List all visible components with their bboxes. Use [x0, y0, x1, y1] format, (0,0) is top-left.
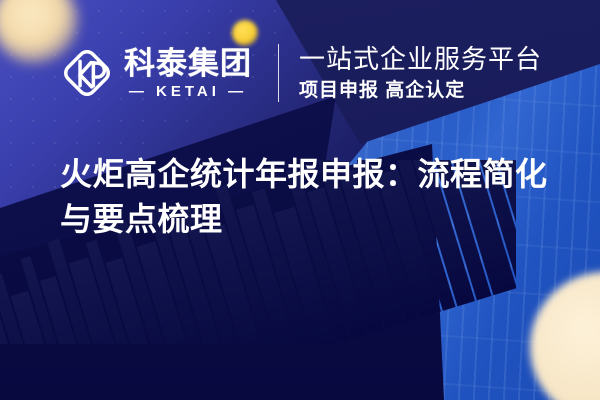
headline-line-1: 火炬高企统计年报申报：流程简化 — [60, 152, 560, 197]
brand-header: 科泰集团 — KETAI — 一站式企业服务平台 项目申报 高企认定 — [58, 44, 542, 102]
vertical-divider — [278, 44, 279, 102]
tagline-block: 一站式企业服务平台 项目申报 高企认定 — [299, 46, 542, 99]
logo-company-cn: 科泰集团 — [124, 48, 252, 79]
headline: 火炬高企统计年报申报：流程简化 与要点梳理 — [60, 152, 560, 243]
tagline-main: 一站式企业服务平台 — [299, 46, 542, 73]
logo-company-en: — KETAI — — [129, 84, 247, 99]
kp-monogram-diamond-icon — [58, 44, 116, 102]
headline-line-2: 与要点梳理 — [60, 197, 560, 242]
tagline-sub: 项目申报 高企认定 — [299, 81, 542, 100]
logo-wordmark: 科泰集团 — KETAI — — [124, 48, 252, 99]
promo-banner: 科泰集团 — KETAI — 一站式企业服务平台 项目申报 高企认定 火炬高企统… — [0, 0, 600, 400]
gold-dot-orb-icon — [232, 20, 258, 46]
